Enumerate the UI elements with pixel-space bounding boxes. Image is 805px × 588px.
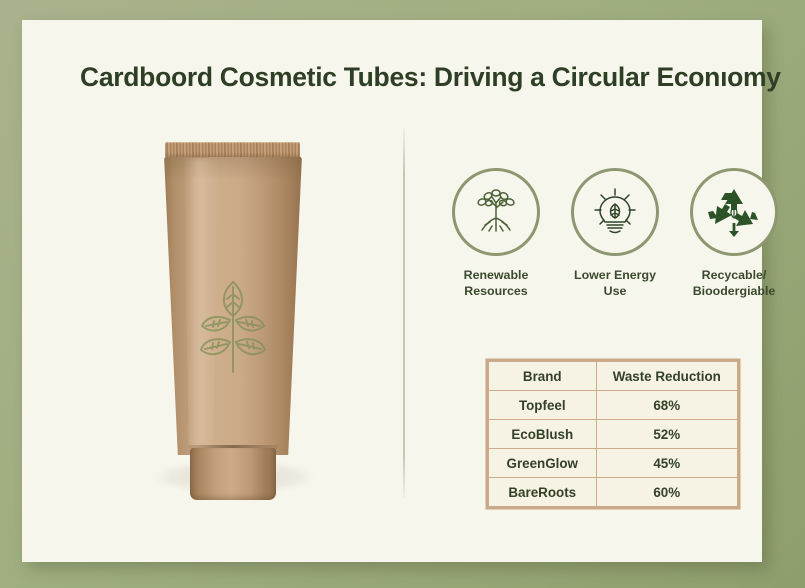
product-tube-illustration <box>132 142 332 512</box>
benefits-row: Renewable Resources <box>440 168 790 300</box>
benefit-label: Recycable/ Bioodergiable <box>693 268 776 300</box>
cell-brand: EcoBlush <box>489 420 597 449</box>
table-row: Topfeel 68% <box>489 391 738 420</box>
recycling-symbol-icon <box>705 183 763 241</box>
benefit-item: Recycable/ Bioodergiable <box>678 168 790 300</box>
cell-brand: BareRoots <box>489 478 597 507</box>
cell-waste-reduction: 60% <box>596 478 737 507</box>
waste-reduction-table: Brand Waste Reduction Topfeel 68% EcoBlu… <box>488 361 738 507</box>
benefit-circle <box>452 168 540 256</box>
cell-waste-reduction: 45% <box>596 449 737 478</box>
tube-cap <box>190 448 276 500</box>
benefit-circle <box>690 168 778 256</box>
cell-brand: GreenGlow <box>489 449 597 478</box>
benefit-label: Lower Energy Use <box>574 268 656 300</box>
tree-with-roots-icon <box>468 184 524 240</box>
cell-brand: Topfeel <box>489 391 597 420</box>
table-row: EcoBlush 52% <box>489 420 738 449</box>
table-row: GreenGlow 45% <box>489 449 738 478</box>
cell-waste-reduction: 52% <box>596 420 737 449</box>
infographic-poster: Cardboord Cosmetic Tubes: Driving a Circ… <box>0 0 805 588</box>
page-title: Cardboord Cosmetic Tubes: Driving a Circ… <box>80 62 740 93</box>
column-header-waste-reduction: Waste Reduction <box>596 362 737 391</box>
benefit-circle <box>571 168 659 256</box>
poster-card: Cardboord Cosmetic Tubes: Driving a Circ… <box>22 20 762 562</box>
benefit-item: Lower Energy Use <box>559 168 671 300</box>
lightbulb-leaf-icon <box>587 184 643 240</box>
table-row: BareRoots 60% <box>489 478 738 507</box>
leaf-plant-emblem-icon <box>194 272 272 376</box>
benefit-item: Renewable Resources <box>440 168 552 300</box>
vertical-divider <box>403 128 405 498</box>
benefit-label: Renewable Resources <box>464 268 529 300</box>
cell-waste-reduction: 68% <box>596 391 737 420</box>
tube-crimp-seal <box>165 142 300 157</box>
table-header-row: Brand Waste Reduction <box>489 362 738 391</box>
column-header-brand: Brand <box>489 362 597 391</box>
